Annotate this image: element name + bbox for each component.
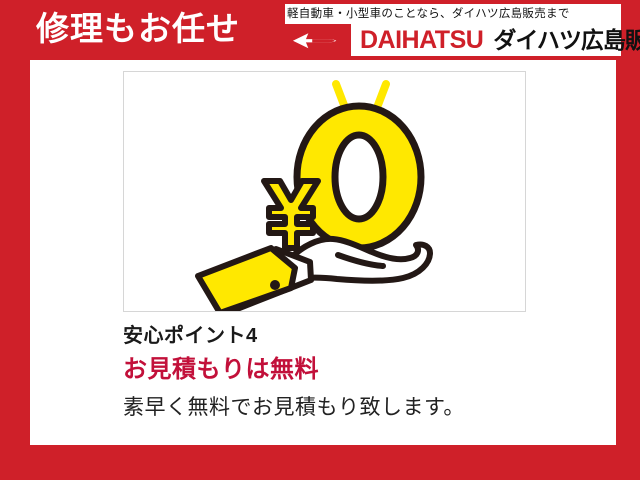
yen-symbol-glyph xyxy=(264,181,318,248)
logo-lockup-row: DAIHATSU ダイハツ広島販売 xyxy=(285,24,621,56)
caption-headline: お見積もりは無料 xyxy=(123,354,563,386)
logo-brand-latin: DAIHATSU xyxy=(360,25,483,55)
frame-left-red-bar xyxy=(0,0,30,480)
page-title: 修理もお任せ xyxy=(36,10,240,48)
slide-root: 修理もお任せ 軽自動車・小型車のことなら、ダイハツ広島販売まで DAIHATSU… xyxy=(0,0,640,480)
logo-tagline: 軽自動車・小型車のことなら、ダイハツ広島販売まで xyxy=(287,5,621,24)
frame-bottom-red-bar xyxy=(0,445,640,480)
illustration-card xyxy=(123,71,526,312)
yellow-sleeve-icon xyxy=(198,248,311,311)
caption-description: 素早く無料でお見積もり致します。 xyxy=(123,393,563,423)
content-area: 安心ポイント4 お見積もりは無料 素早く無料でお見積もり致します。 xyxy=(30,60,616,445)
logo-brand-jp: ダイハツ広島販売 xyxy=(493,25,640,55)
dealer-logo-block: 軽自動車・小型車のことなら、ダイハツ広島販売まで DAIHATSU ダイハツ広島… xyxy=(285,4,621,56)
frame-right-red-bar xyxy=(616,0,640,480)
daihatsu-d-emblem-icon xyxy=(285,24,351,56)
sparkle-lines-icon xyxy=(336,84,386,105)
yen-zero-on-open-hand-illustration xyxy=(124,72,525,311)
point-label: 安心ポイント4 xyxy=(123,322,563,350)
header-band: 修理もお任せ 軽自動車・小型車のことなら、ダイハツ広島販売まで DAIHATSU… xyxy=(0,0,640,60)
caption-block: 安心ポイント4 お見積もりは無料 素早く無料でお見積もり致します。 xyxy=(123,322,563,423)
